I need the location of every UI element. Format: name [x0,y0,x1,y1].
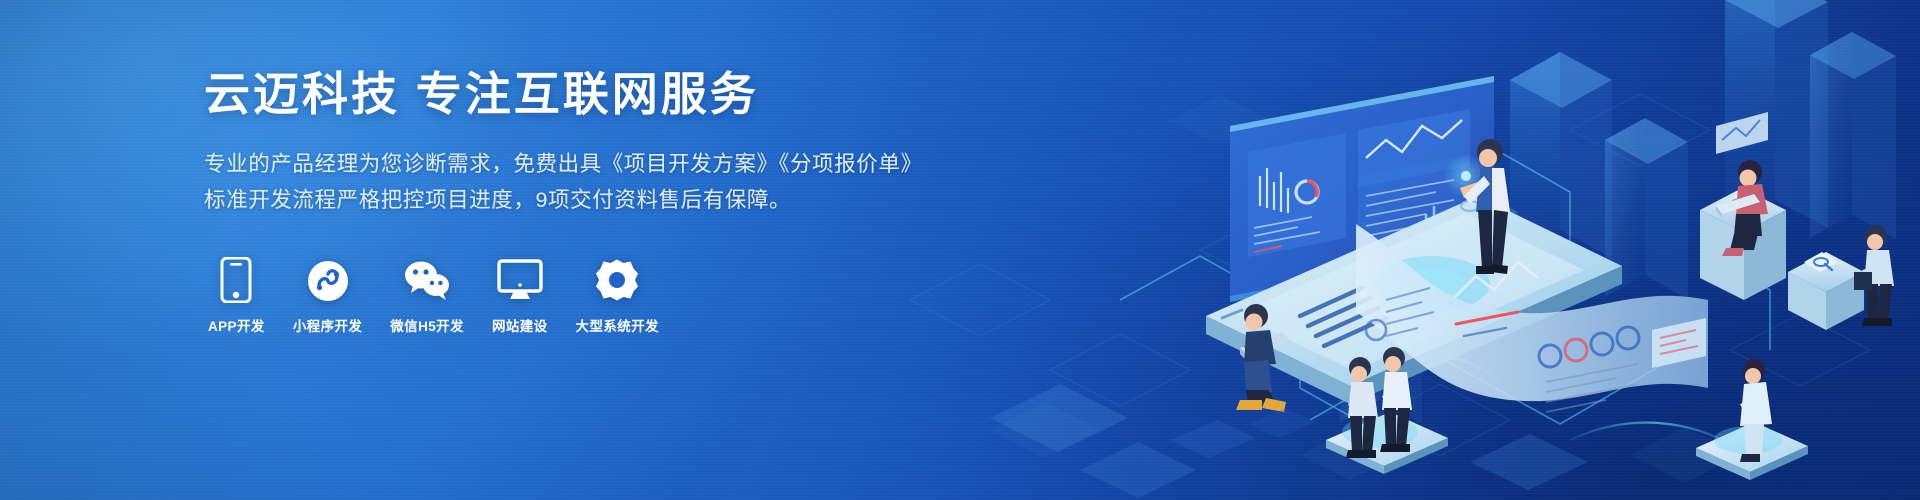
gear-icon [595,257,639,303]
monitor-icon [497,257,543,303]
wechat-miniprogram-icon [307,257,349,303]
page-title: 云迈科技 专注互联网服务 [204,66,924,124]
mobile-phone-icon [220,257,252,303]
businessman-with-briefcase [1788,225,1894,330]
woman-on-tablet-platform [1696,359,1808,480]
service-item-website[interactable]: 网站建设 [492,257,548,335]
service-item-app[interactable]: APP开发 [208,257,265,335]
isometric-tech-illustration [870,0,1920,500]
ghost-blocks [990,384,1588,498]
service-label-wechat-h5: 微信H5开发 [390,315,464,335]
service-label-website: 网站建设 [492,315,548,335]
service-label-miniprogram: 小程序开发 [293,315,363,335]
wechat-icon [403,257,451,303]
floating-data-cards [1170,408,1316,458]
service-icon-row: APP开发 小程序开发 [208,257,924,335]
banner-subtitle: 专业的产品经理为您诊断需求，免费出具《项目开发方案》《分项报价单》 标准开发流程… [204,146,924,220]
service-item-large-system[interactable]: 大型系统开发 [576,257,659,335]
subtitle-line-2: 标准开发流程严格把控项目进度，9项交付资料售后有保障。 [204,182,924,219]
service-item-miniprogram[interactable]: 小程序开发 [293,257,363,335]
service-label-large-system: 大型系统开发 [576,315,659,335]
hero-banner: 云迈科技 专注互联网服务 专业的产品经理为您诊断需求，免费出具《项目开发方案》《… [0,0,1920,500]
service-label-app: APP开发 [208,315,265,335]
banner-content: 云迈科技 专注互联网服务 专业的产品经理为您诊断需求，免费出具《项目开发方案》《… [204,66,924,335]
subtitle-line-1: 专业的产品经理为您诊断需求，免费出具《项目开发方案》《分项报价单》 [204,146,924,183]
service-item-wechat-h5[interactable]: 微信H5开发 [390,257,464,335]
